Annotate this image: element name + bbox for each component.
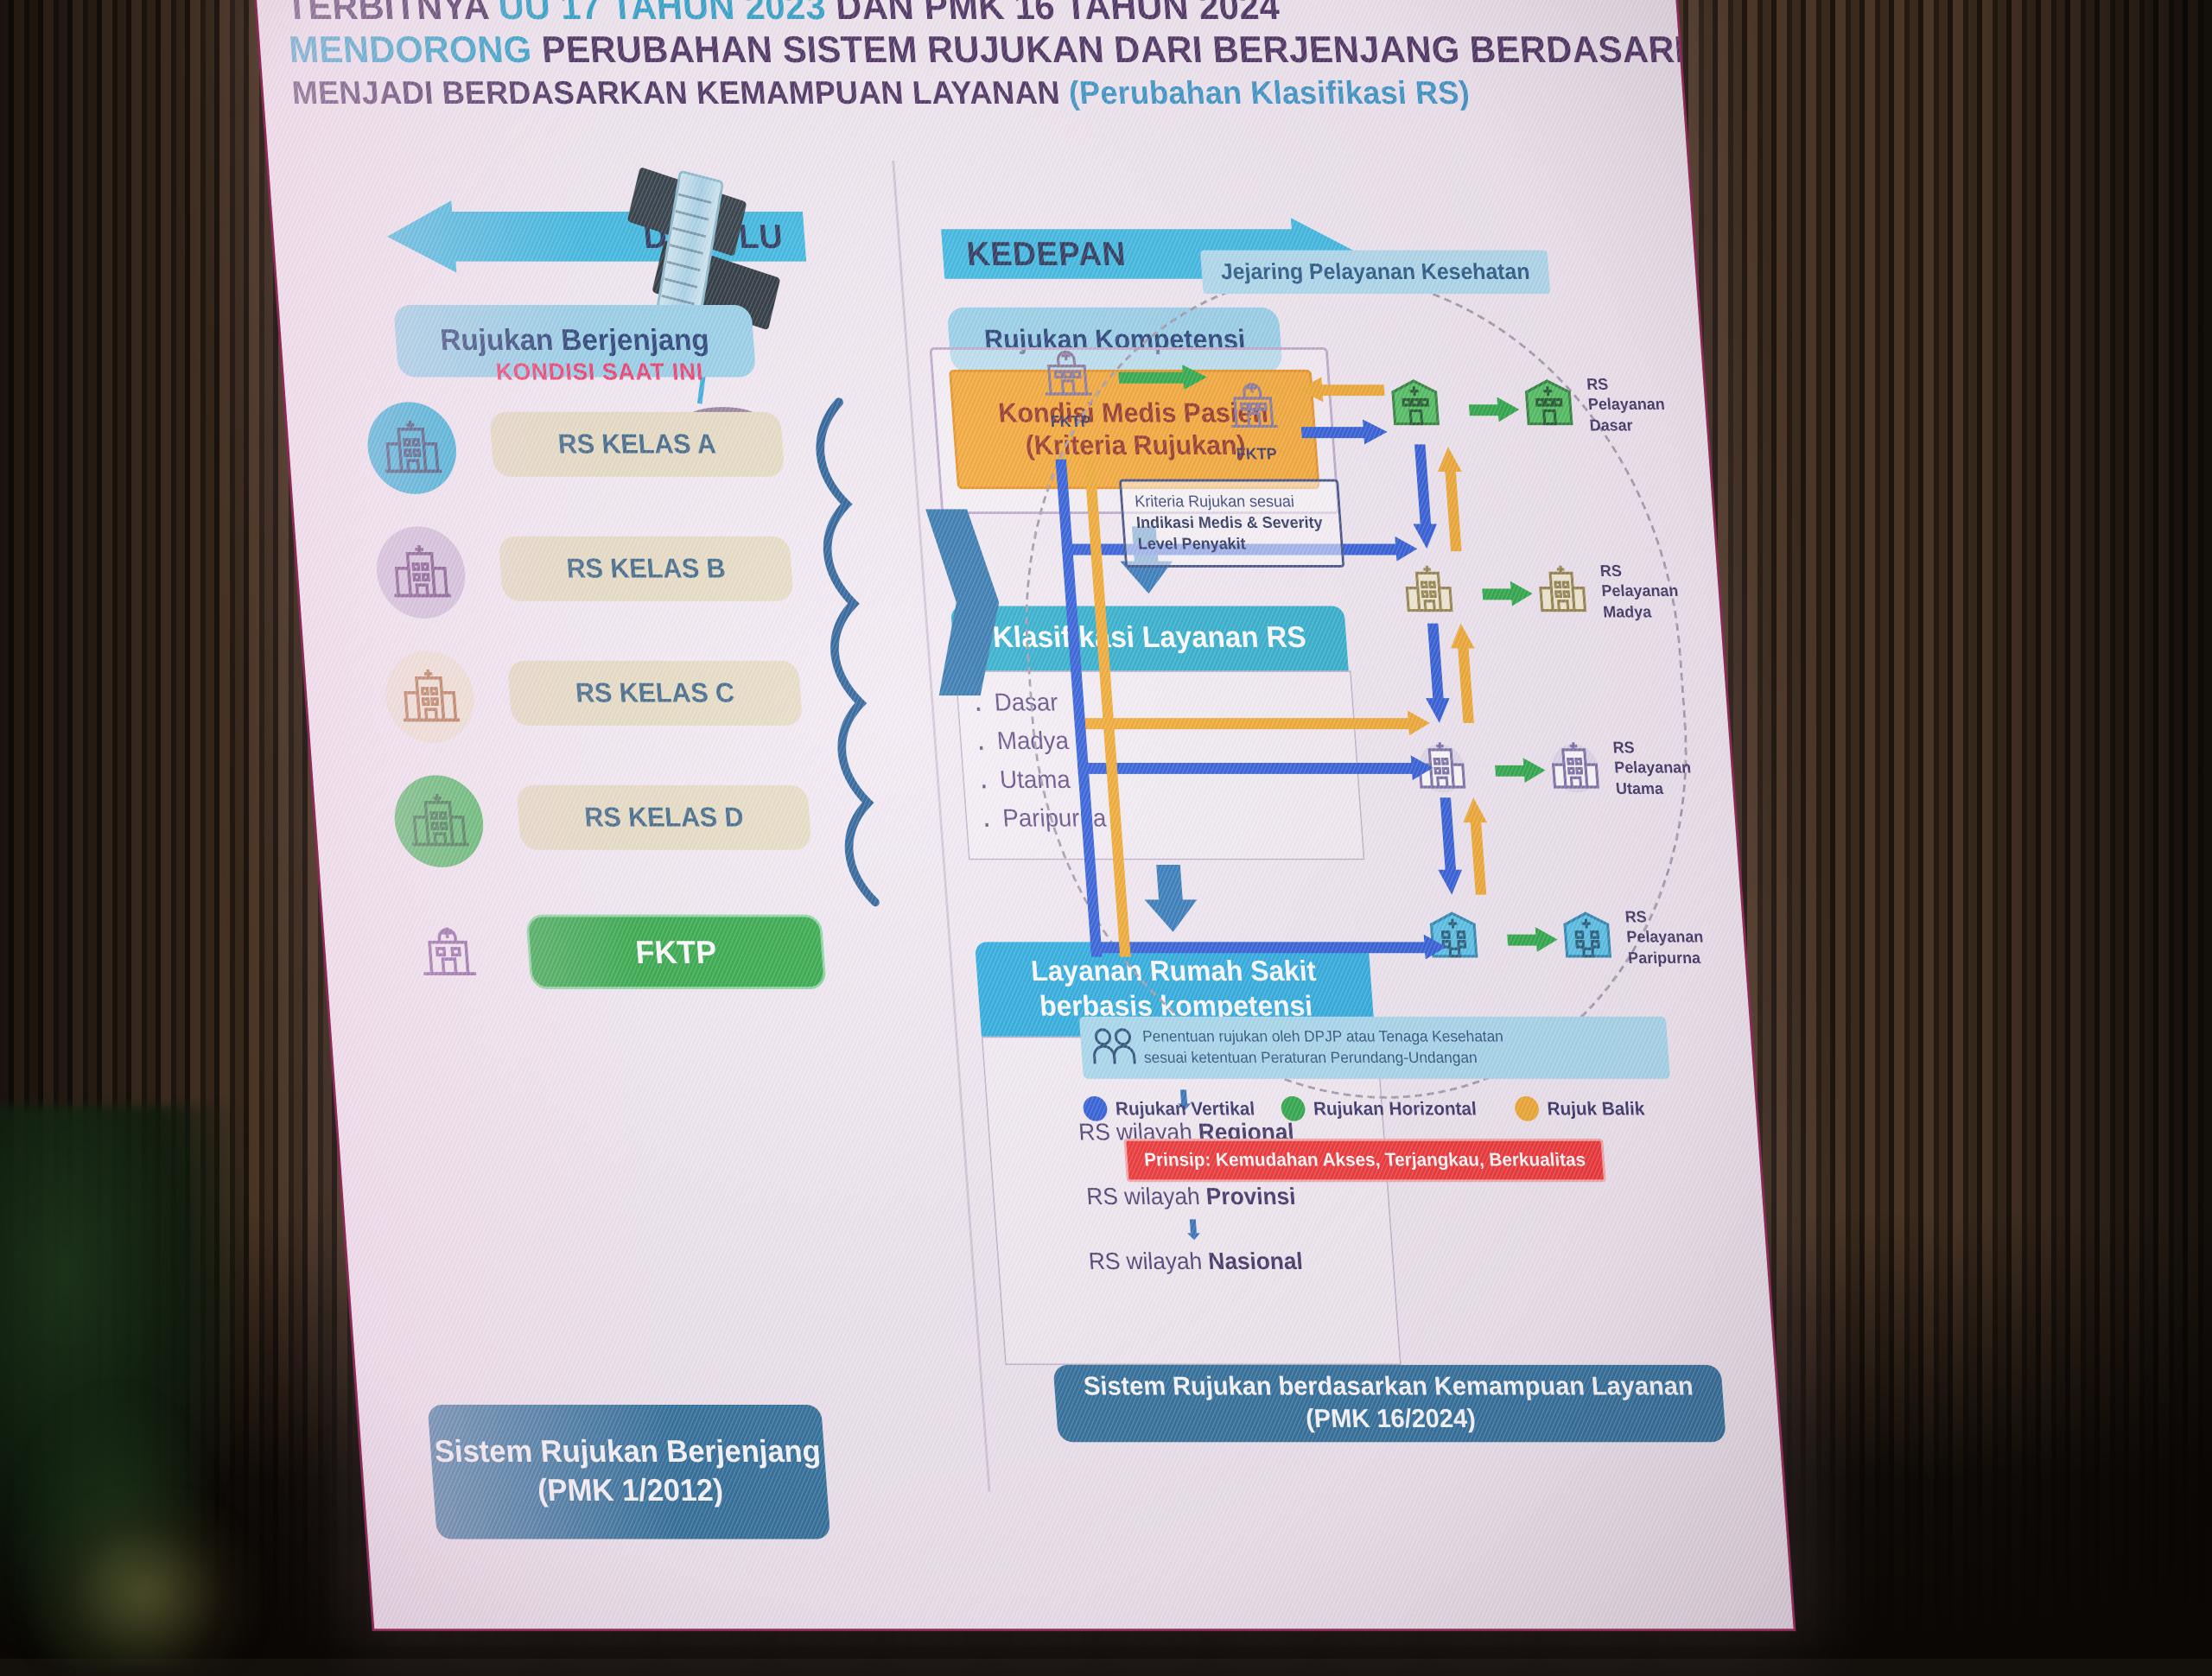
madya-l3: Madya [1602, 601, 1651, 620]
jejaring-panel: Jejaring Pelayanan Kesehatan FKTP FKTP [991, 260, 1720, 1106]
legend-rujukan-horizontal: Rujukan Horizontal [1281, 1096, 1478, 1121]
kondisi-saat-ini-label: KONDISI SAAT INI [426, 359, 773, 387]
node-fktp-2-icon [1216, 370, 1290, 442]
dasar-l1: RS [1586, 375, 1608, 394]
legend-rujuk-balik: Rujuk Balik [1514, 1096, 1645, 1121]
left-banner-line1: Sistem Rujukan Berjenjang [433, 1434, 822, 1469]
prinsip-banner: Prinsip: Kemudahan Akses, Terjangkau, Be… [1123, 1139, 1606, 1182]
paripurna-l1: RS [1624, 907, 1647, 926]
node-fktp-2-label: FKTP [1210, 444, 1304, 464]
arrow-horizontal-green-3-icon [1482, 588, 1533, 600]
node-fktp-1-icon [1030, 337, 1104, 409]
middle-bottom-banner: Sistem Rujukan berdasarkan Kemampuan Lay… [1053, 1365, 1726, 1442]
node-rs-paripurna-label: RS Pelayanan Paripurna [1624, 907, 1724, 968]
madya-l1: RS [1599, 562, 1622, 581]
dpjp-note-l2: sesuai ketentuan Peraturan Perundang-Und… [1143, 1049, 1478, 1066]
arrow-horizontal-green-1-icon [1118, 372, 1207, 384]
left-banner-line2: (PMK 1/2012) [537, 1473, 725, 1508]
arrow-horizontal-green-2-icon [1469, 404, 1520, 416]
chain-step-4-prefix: RS wilayah [1088, 1249, 1210, 1275]
kriteria-note-l2: Indikasi Medis & Severity [1135, 512, 1323, 531]
row-label-kelas-b: RS KELAS B [499, 536, 794, 601]
kriteria-rujukan-note: Kriteria Rujukan sesuai Indikasi Medis &… [1119, 479, 1344, 568]
dpjp-note-box: Penentuan rujukan oleh DPJP atau Tenaga … [1079, 1017, 1670, 1079]
dpjp-note-l1: Penentuan rujukan oleh DPJP atau Tenaga … [1141, 1028, 1503, 1045]
hospital-icon-kelas-c [383, 651, 478, 743]
node-rs-madya-label: RS Pelayanan Madya [1599, 562, 1689, 622]
left-bottom-banner: Sistem Rujukan Berjenjang (PMK 1/2012) [428, 1405, 831, 1540]
rail-blue-3-icon [1090, 942, 1449, 953]
kriteria-note-l3: Level Penyakit [1137, 534, 1246, 553]
node-rs-madya-b-icon [1525, 554, 1599, 626]
arrow-rujuk-balik-icon [1298, 384, 1384, 396]
node-rs-utama-label: RS Pelayanan Utama [1612, 738, 1702, 798]
node-fktp-1-label: FKTP [1023, 412, 1117, 432]
arrow-horizontal-green-5-icon [1507, 935, 1558, 946]
title-part-1b: UU 17 TAHUN 2023 [497, 0, 827, 28]
chain-step-4: RS wilayah Nasional [998, 1249, 1394, 1277]
row-label-kelas-c: RS KELAS C [507, 661, 803, 726]
clinic-icon-fktp [401, 905, 496, 997]
chain-arrow-3-icon: ⬇ [995, 1217, 1391, 1245]
row-label-kelas-d: RS KELAS D [516, 785, 811, 850]
arrow-horizontal-green-4-icon [1495, 765, 1546, 777]
legend-dot-balik-icon [1514, 1096, 1540, 1121]
network-title: Jejaring Pelayanan Kesehatan [1200, 251, 1550, 294]
node-rs-paripurna-b-icon [1550, 899, 1624, 972]
chain-step-3-bold: Provinsi [1205, 1184, 1297, 1210]
rail-blue-2-icon [1077, 763, 1436, 774]
node-rs-dasar-a-icon [1378, 367, 1452, 440]
dasar-l3: Dasar [1589, 415, 1633, 434]
paripurna-l2: Pelayanan [1626, 927, 1704, 946]
row-label-kelas-a: RS KELAS A [489, 412, 785, 477]
hospital-icon-kelas-b [373, 526, 468, 619]
node-rs-dasar-label: RS Pelayanan Dasar [1586, 375, 1675, 435]
fktp-button[interactable]: FKTP [525, 915, 826, 989]
node-rs-madya-a-icon [1391, 554, 1465, 626]
utama-l2: Pelayanan [1614, 759, 1692, 778]
paripurna-l3: Paripurna [1627, 948, 1700, 967]
legend-rujukan-vertikal: Rujukan Vertikal [1083, 1096, 1255, 1121]
utama-l3: Utama [1615, 778, 1663, 797]
madya-l2: Pelayanan [1601, 581, 1679, 600]
slide-title: TERBITNYA UU 17 TAHUN 2023 DAN PMK 16 TA… [284, 0, 1664, 111]
legend-dot-horizontal-icon [1281, 1096, 1306, 1121]
utama-l1: RS [1612, 738, 1635, 757]
arrow-rujukan-vertikal-h-icon [1301, 427, 1388, 438]
people-icon [1090, 1026, 1141, 1069]
rail-orange-1-icon [1074, 718, 1433, 729]
projection-screen: TERBITNYA UU 17 TAHUN 2023 DAN PMK 16 TA… [255, 0, 1794, 1628]
legend-dot-vertikal-icon [1083, 1096, 1109, 1121]
chain-step-4-bold: Nasional [1207, 1249, 1303, 1275]
audience-silhouette [35, 1495, 259, 1676]
kriteria-note-l1: Kriteria Rujukan sesuai [1135, 492, 1295, 511]
chain-step-3: RS wilayah Provinsi [994, 1184, 1389, 1212]
title-part-3b: (Perubahan Klasifikasi RS) [1067, 73, 1471, 111]
title-part-1a: TERBITNYA [284, 0, 489, 28]
chain-step-3-prefix: RS wilayah [1085, 1184, 1207, 1210]
hospital-icon-kelas-a [365, 402, 460, 494]
legend-label-horizontal: Rujukan Horizontal [1313, 1098, 1477, 1119]
title-part-3a: MENJADI BERDASARKAN KEMAMPUAN LAYANAN [290, 73, 1061, 111]
legend-label-vertikal: Rujukan Vertikal [1115, 1098, 1255, 1119]
title-part-1c: DAN PMK 16 TAHUN 2024 [834, 0, 1281, 28]
legend-label-balik: Rujuk Balik [1547, 1098, 1645, 1119]
node-rs-dasar-b-icon [1511, 367, 1586, 440]
arrow-left-head-icon [385, 200, 456, 273]
dasar-l2: Pelayanan [1587, 395, 1665, 414]
hospital-icon-kelas-d [391, 775, 486, 867]
title-part-2a: MENDORONG [288, 30, 533, 72]
node-rs-utama-b-icon [1538, 731, 1612, 803]
title-part-2b: PERUBAHAN SISTEM RUJUKAN DARI BERJENJANG… [540, 30, 1793, 72]
